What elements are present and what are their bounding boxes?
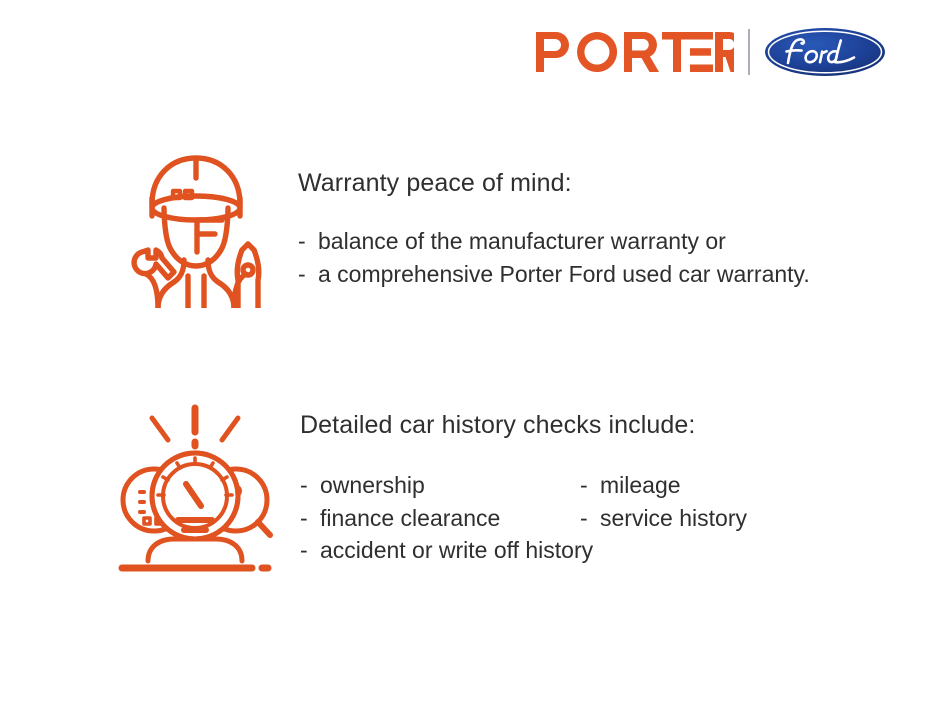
bullet-label: ownership (320, 470, 425, 501)
bullet-dash: - (298, 226, 318, 257)
logo-divider (748, 29, 750, 75)
list-item: - finance clearance - service history (300, 503, 747, 534)
mechanic-icon (112, 140, 280, 308)
bullet-dash: - (300, 470, 320, 501)
bullet-label: accident or write off history (320, 535, 593, 566)
list-item: - accident or write off history (300, 535, 747, 566)
warranty-heading: Warranty peace of mind: (298, 168, 810, 198)
warranty-bullet-list: - balance of the manufacturer warranty o… (298, 226, 810, 289)
bullet-label: a comprehensive Porter Ford used car war… (318, 259, 810, 290)
bullet-dash: - (580, 470, 600, 501)
porter-wordmark (534, 30, 734, 74)
bullet-label: finance clearance (320, 503, 500, 534)
bullet-label: balance of the manufacturer warranty or (318, 226, 726, 257)
bullet-dash: - (300, 535, 320, 566)
history-heading: Detailed car history checks include: (300, 410, 747, 440)
bullet-dash: - (300, 503, 320, 534)
bullet-label: service history (600, 503, 747, 534)
history-text-group: Detailed car history checks include: - o… (300, 392, 747, 566)
bullet-label: mileage (600, 470, 681, 501)
history-bullet-list: - ownership - mileage - finance clearanc… (300, 470, 747, 566)
section-history-checks: Detailed car history checks include: - o… (100, 392, 747, 576)
list-item: - balance of the manufacturer warranty o… (298, 226, 810, 257)
bullet-dash: - (580, 503, 600, 534)
list-item: - ownership - mileage (300, 470, 747, 501)
list-item: - a comprehensive Porter Ford used car w… (298, 259, 810, 290)
section-warranty: Warranty peace of mind: - balance of the… (112, 138, 810, 308)
dashboard-gauges-icon (100, 396, 290, 576)
slide-canvas: Warranty peace of mind: - balance of the… (0, 0, 938, 704)
bullet-dash: - (298, 259, 318, 290)
warranty-text-group: Warranty peace of mind: - balance of the… (298, 138, 810, 289)
ford-oval-logo (764, 27, 886, 77)
brand-logo-lockup[interactable] (534, 26, 886, 78)
